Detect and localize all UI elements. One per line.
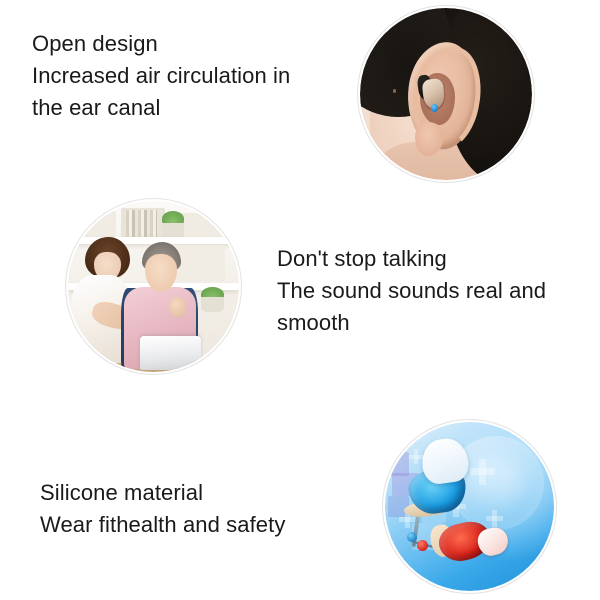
man-hand: [169, 297, 186, 318]
feature-text-silicone-material: Silicone material Wear fithealth and saf…: [40, 477, 370, 541]
books-on-shelf: [126, 210, 157, 239]
ear-photo-inner: [360, 8, 532, 180]
blue-connector-dot: [407, 532, 417, 542]
silicone-ear-molds-photo: [385, 422, 554, 591]
plant-pot: [201, 297, 223, 312]
feature-text-open-design: Open design Increased air circulation in…: [32, 28, 362, 124]
medical-blue-scene: [385, 422, 554, 591]
skin-mole: [393, 89, 397, 93]
shelf-panel: [78, 211, 116, 238]
medical-cross-icon: [486, 510, 503, 527]
couple-scene: [68, 201, 239, 372]
ear-with-hearing-aid-photo: [360, 8, 532, 180]
laptop: [140, 336, 202, 370]
hearing-aid-indicator-dot: [431, 104, 438, 111]
couple-photo-inner: [68, 201, 239, 372]
mold-photo-inner: [385, 422, 554, 591]
medical-cross-icon: [470, 459, 495, 484]
elderly-couple-laptop-photo: [68, 201, 239, 372]
product-feature-page: Open design Increased air circulation in…: [0, 0, 600, 600]
feature-text-dont-stop-talking: Don't stop talking The sound sounds real…: [277, 243, 587, 339]
ear-scene: [360, 8, 532, 180]
